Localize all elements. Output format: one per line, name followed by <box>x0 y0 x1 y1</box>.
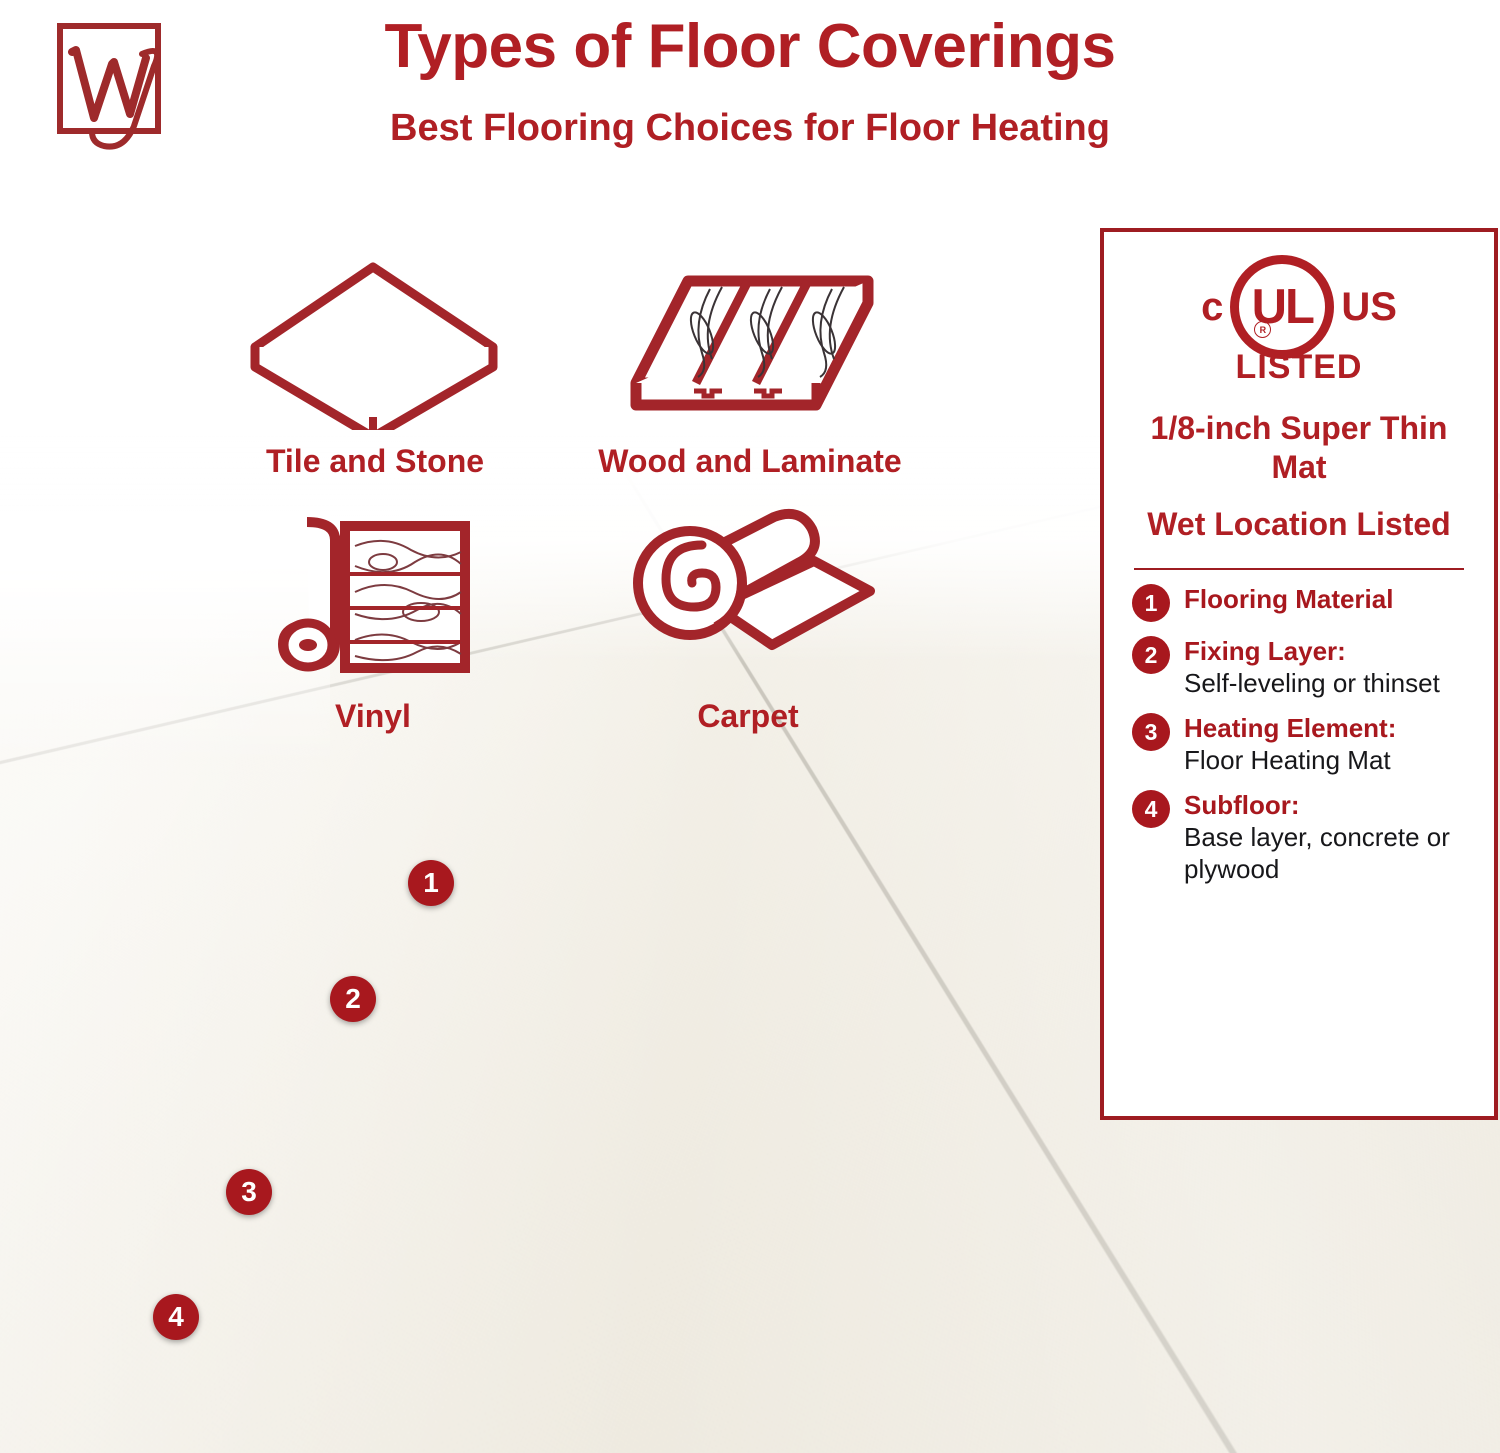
product-info-panel: c UL R US LISTED 1/8-inch Super Thin Mat… <box>1100 228 1498 1120</box>
product-title-thin-mat: 1/8-inch Super Thin Mat <box>1132 409 1466 487</box>
layer-item-3: 3 Heating Element: Floor Heating Mat <box>1132 712 1466 776</box>
ul-c-label: c <box>1201 287 1223 327</box>
covering-wood-laminate: Wood and Laminate <box>540 255 960 481</box>
covering-label: Vinyl <box>228 696 518 736</box>
covering-vinyl: Vinyl <box>228 500 518 736</box>
tile-stone-icon <box>241 255 509 430</box>
layer-badge: 3 <box>1132 713 1170 751</box>
covering-tile-stone: Tile and Stone <box>215 255 535 481</box>
layer-text: Heating Element: Floor Heating Mat <box>1184 712 1396 776</box>
layer-heading: Flooring Material <box>1184 584 1393 614</box>
photo-marker-2: 2 <box>330 976 376 1022</box>
layer-body: Self-leveling or thinset <box>1184 668 1440 698</box>
page-subtitle: Best Flooring Choices for Floor Heating <box>200 104 1300 152</box>
header: Types of Floor Coverings Best Flooring C… <box>0 0 1500 185</box>
ul-mark-row: c UL R US <box>1132 264 1466 350</box>
registered-trademark-icon: R <box>1254 321 1271 338</box>
layer-badge: 2 <box>1132 636 1170 674</box>
photo-marker-4: 4 <box>153 1294 199 1340</box>
panel-divider <box>1134 568 1464 570</box>
photo-marker-3: 3 <box>226 1169 272 1215</box>
carpet-roll-icon <box>618 507 878 685</box>
layer-item-2: 2 Fixing Layer: Self-leveling or thinset <box>1132 635 1466 699</box>
layer-heading: Fixing Layer: <box>1184 636 1346 666</box>
covering-label: Tile and Stone <box>215 441 535 481</box>
layer-text: Subfloor: Base layer, concrete or plywoo… <box>1184 789 1466 885</box>
wood-laminate-icon <box>610 255 890 430</box>
covering-label: Wood and Laminate <box>540 441 960 481</box>
layer-body: Base layer, concrete or plywood <box>1184 822 1450 884</box>
photo-marker-1: 1 <box>408 860 454 906</box>
floor-covering-icons: Tile and Stone <box>0 255 1080 775</box>
vinyl-roll-icon <box>261 500 486 685</box>
page-title: Types of Floor Coverings <box>200 8 1300 86</box>
ul-listed-mark: c UL R US LISTED <box>1132 264 1466 387</box>
layer-heading: Subfloor: <box>1184 790 1300 820</box>
ul-us-label: US <box>1341 287 1397 327</box>
infographic-root: WarmlyYours WarmlyYours WarmlyYours <box>0 0 1500 1453</box>
layer-badge: 4 <box>1132 790 1170 828</box>
layer-text: Fixing Layer: Self-leveling or thinset <box>1184 635 1440 699</box>
layer-heading: Heating Element: <box>1184 713 1396 743</box>
layer-text: Flooring Material <box>1184 583 1393 615</box>
ul-circle-icon: UL R <box>1230 255 1334 359</box>
product-title-wet-location: Wet Location Listed <box>1132 505 1466 544</box>
wy-monogram-icon <box>42 14 177 154</box>
covering-carpet: Carpet <box>598 507 898 736</box>
layer-item-4: 4 Subfloor: Base layer, concrete or plyw… <box>1132 789 1466 885</box>
layer-body: Floor Heating Mat <box>1184 745 1391 775</box>
layer-badge: 1 <box>1132 584 1170 622</box>
layer-item-1: 1 Flooring Material <box>1132 583 1466 622</box>
warmlyyours-logo <box>42 14 177 154</box>
covering-label: Carpet <box>598 696 898 736</box>
